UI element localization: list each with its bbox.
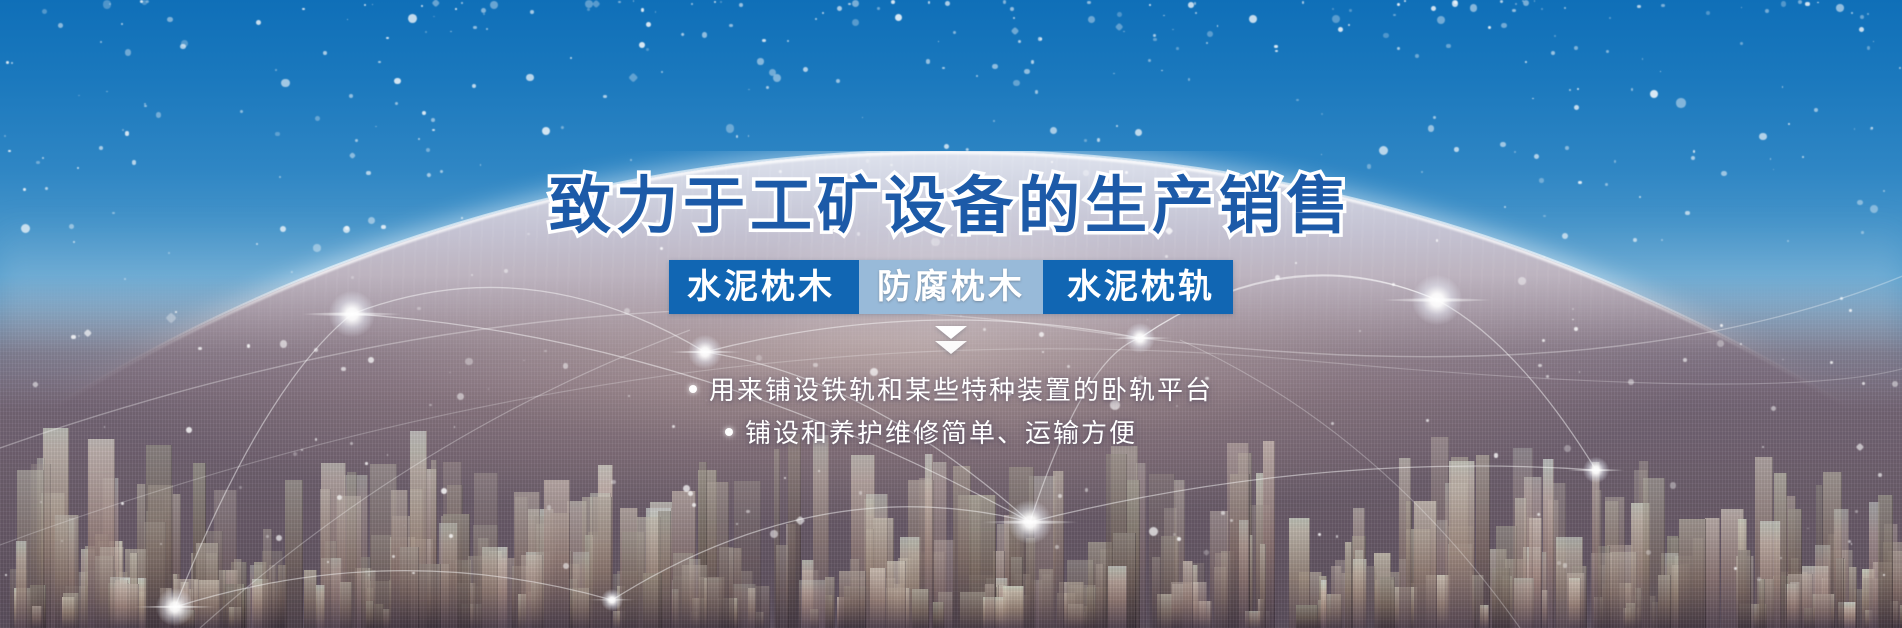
bullet-dot-icon <box>725 428 733 436</box>
product-tagline-bar: 水泥枕木 防腐枕木 水泥枕轨 <box>669 260 1233 314</box>
feature-list: 用来铺设铁轨和某些特种装置的卧轨平台 铺设和养护维修简单、运输方便 <box>689 370 1213 450</box>
banner-content: 致力于工矿设备的生产销售 水泥枕木 防腐枕木 水泥枕轨 用来铺设铁轨和某些特种装… <box>0 0 1902 628</box>
scroll-down-indicator <box>935 326 967 354</box>
chevron-down-icon <box>935 326 967 339</box>
list-item: 铺设和养护维修简单、运输方便 <box>725 413 1137 450</box>
tagline-segment-2: 防腐枕木 <box>859 260 1043 314</box>
list-item-label: 铺设和养护维修简单、运输方便 <box>745 413 1137 450</box>
tagline-segment-1: 水泥枕木 <box>669 260 853 314</box>
chevron-down-icon <box>935 341 967 354</box>
list-item: 用来铺设铁轨和某些特种装置的卧轨平台 <box>689 370 1213 407</box>
bullet-dot-icon <box>689 385 697 393</box>
list-item-label: 用来铺设铁轨和某些特种装置的卧轨平台 <box>709 370 1213 407</box>
hero-banner: 致力于工矿设备的生产销售 水泥枕木 防腐枕木 水泥枕轨 用来铺设铁轨和某些特种装… <box>0 0 1902 628</box>
tagline-segment-3: 水泥枕轨 <box>1049 260 1233 314</box>
banner-headline: 致力于工矿设备的生产销售 <box>549 176 1353 238</box>
